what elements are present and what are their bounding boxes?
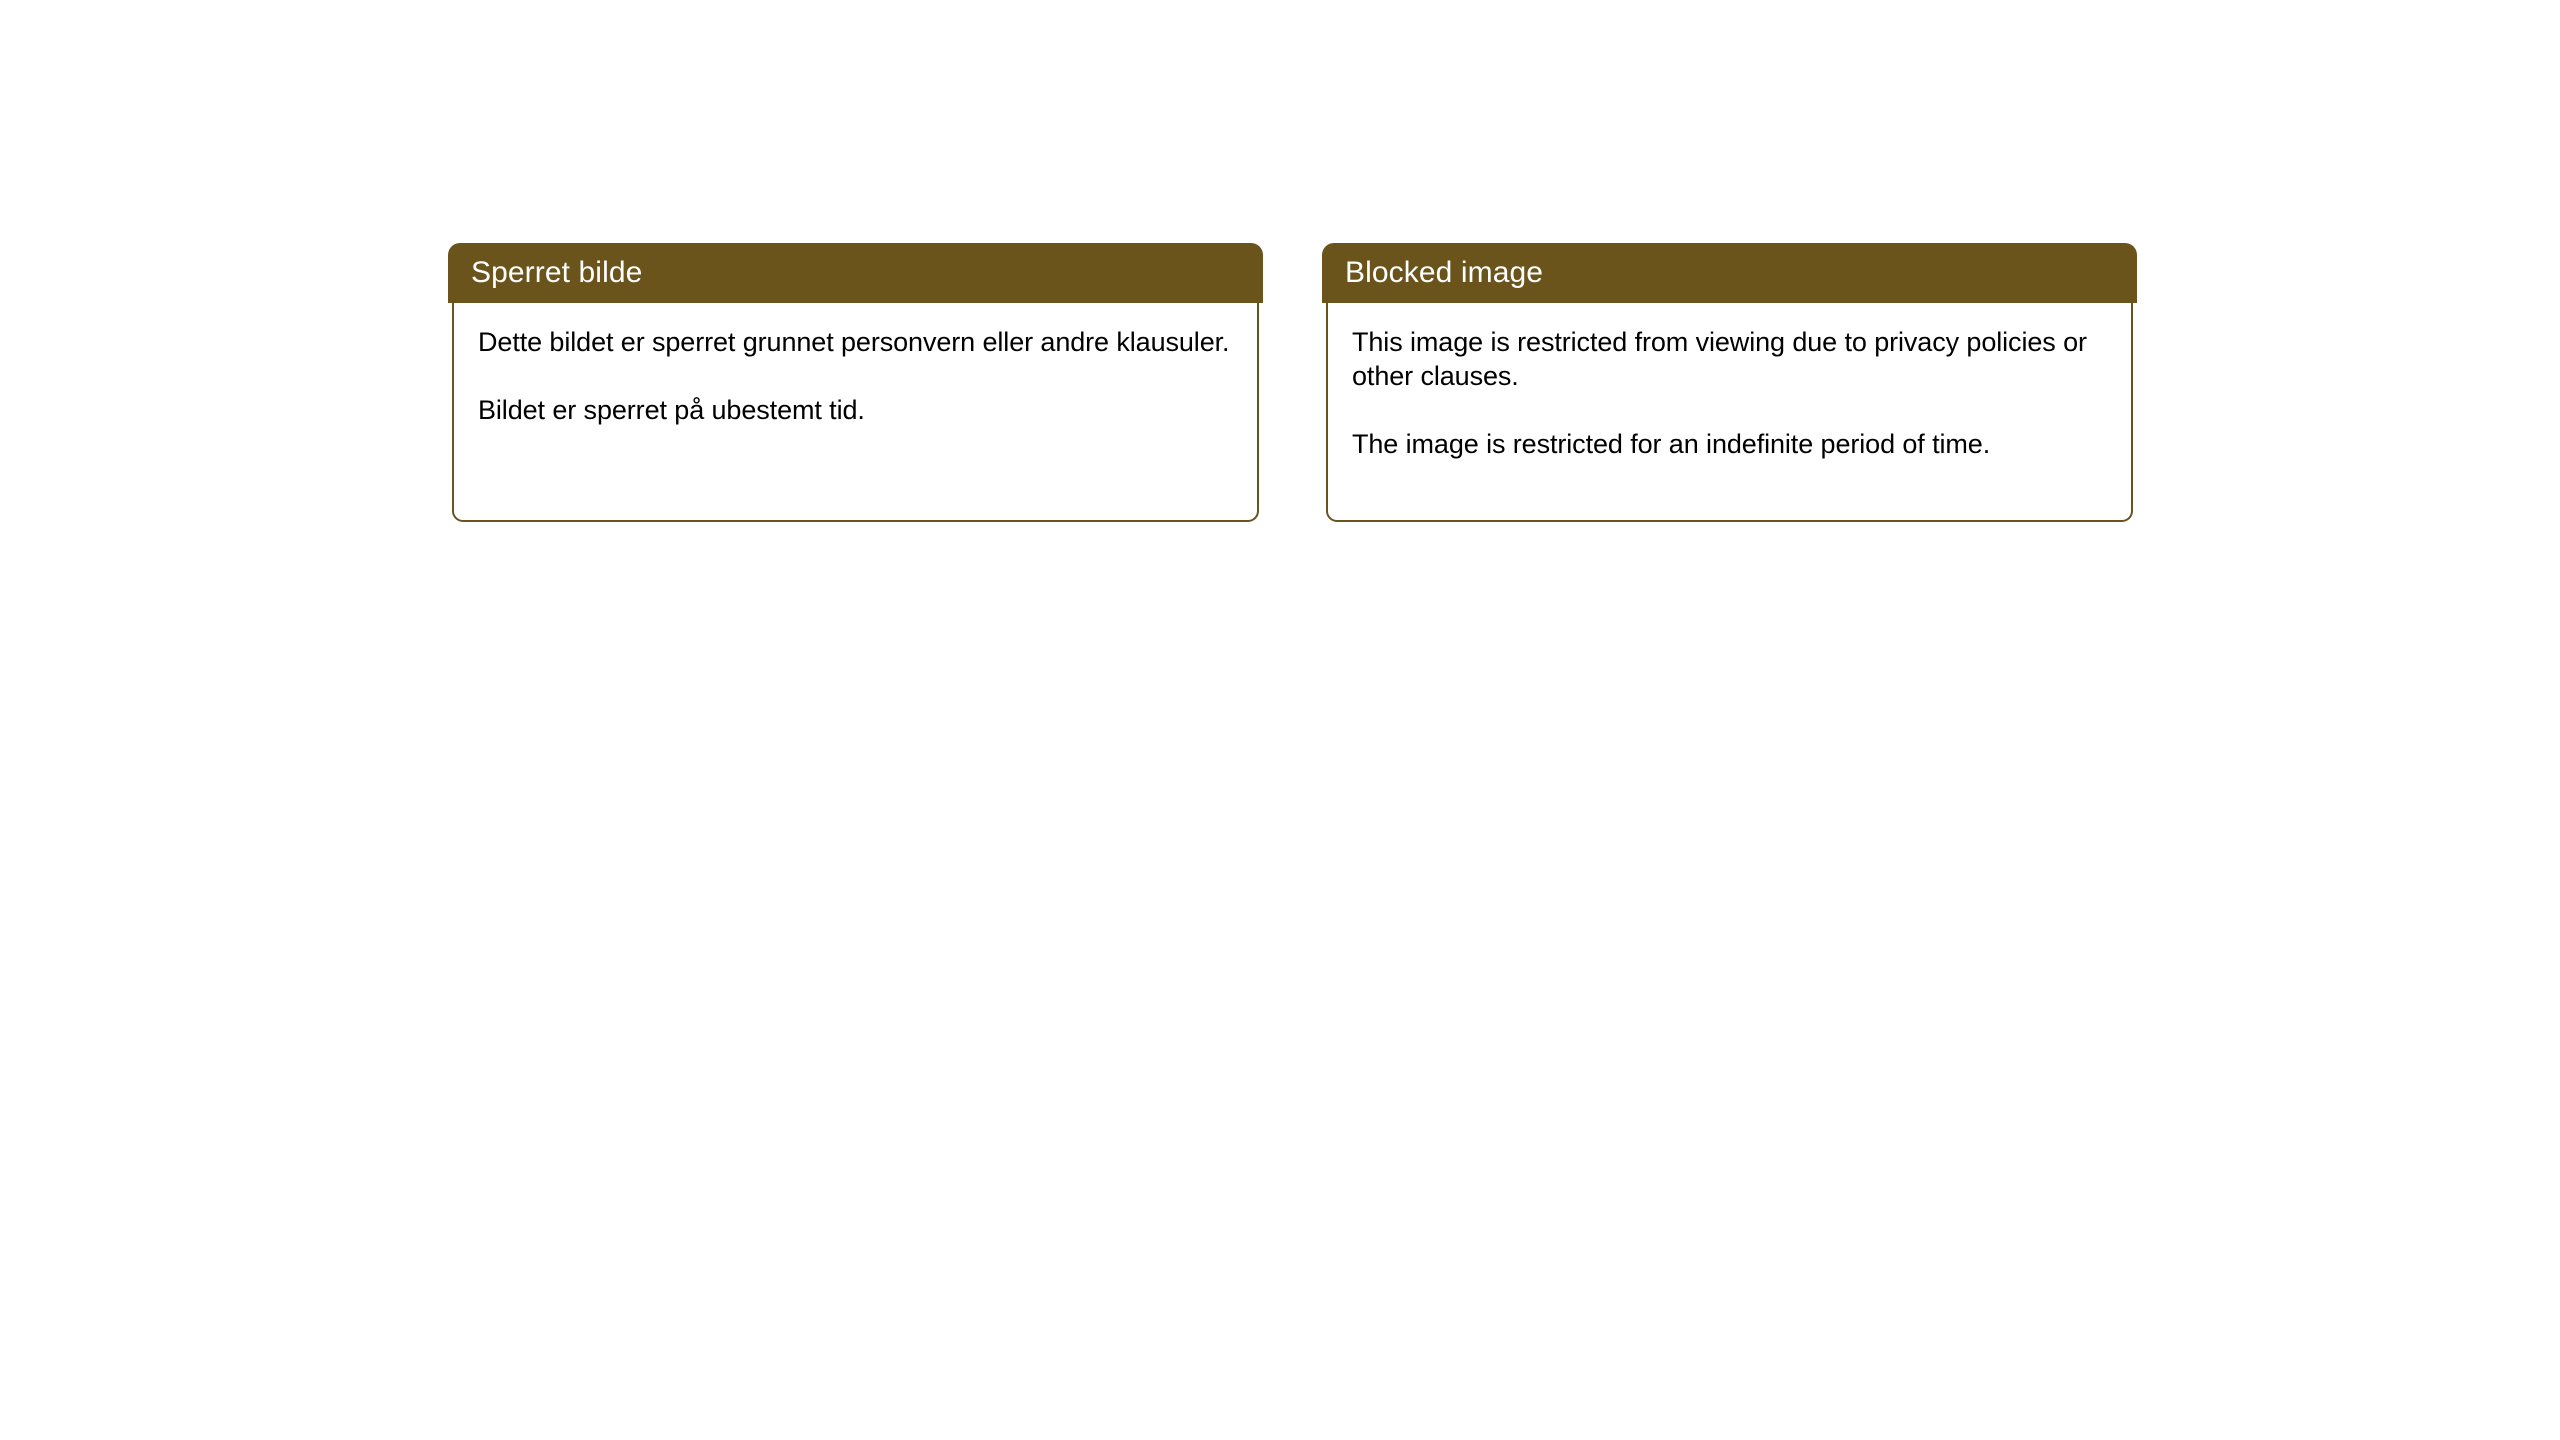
card-paragraph-duration: Bildet er sperret på ubestemt tid. (478, 393, 1233, 427)
blocked-image-card-english: Blocked image This image is restricted f… (1322, 243, 2137, 522)
card-header-bar: Sperret bilde (448, 243, 1263, 303)
card-paragraph-reason: This image is restricted from viewing du… (1352, 325, 2107, 393)
blocked-image-notice-group: Sperret bilde Dette bildet er sperret gr… (448, 243, 2137, 522)
card-paragraph-reason: Dette bildet er sperret grunnet personve… (478, 325, 1233, 359)
card-body: Dette bildet er sperret grunnet personve… (452, 303, 1259, 522)
card-title: Blocked image (1345, 256, 1543, 290)
card-title: Sperret bilde (471, 256, 642, 290)
card-header-bar: Blocked image (1322, 243, 2137, 303)
card-paragraph-duration: The image is restricted for an indefinit… (1352, 427, 2107, 461)
card-body: This image is restricted from viewing du… (1326, 303, 2133, 522)
blocked-image-card-norwegian: Sperret bilde Dette bildet er sperret gr… (448, 243, 1263, 522)
